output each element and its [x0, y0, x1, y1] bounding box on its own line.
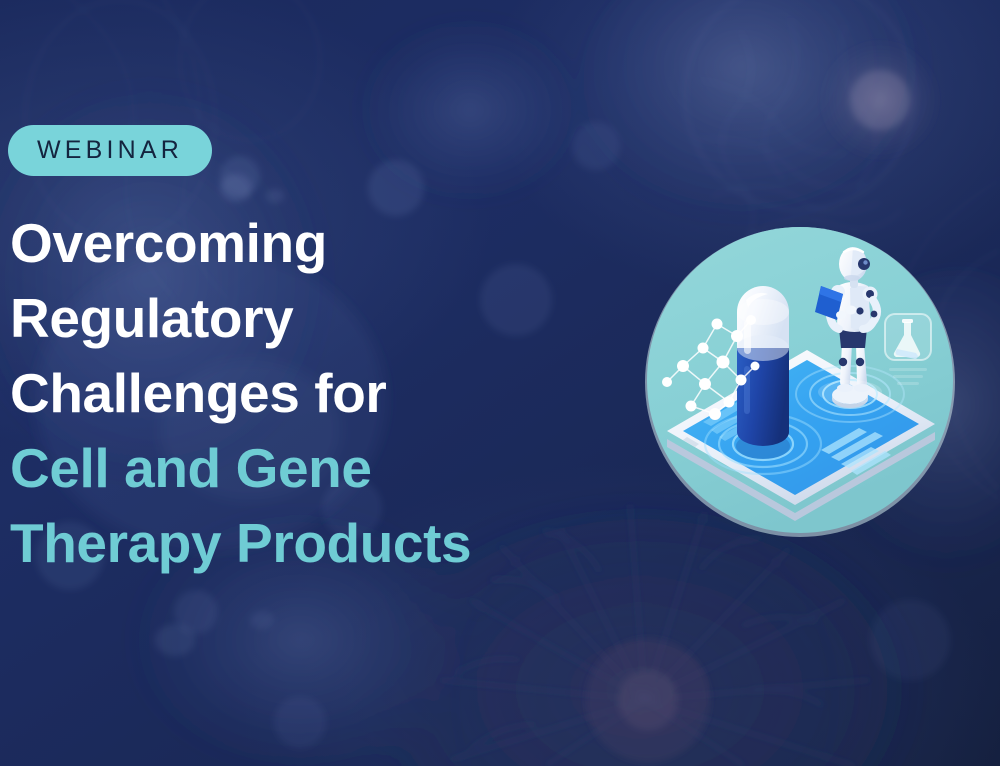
illustration-circle: [645, 216, 956, 546]
webinar-badge-label: WEBINAR: [37, 136, 183, 165]
headline-line-1: Overcoming: [10, 206, 650, 281]
webinar-banner: WEBINAR Overcoming Regulatory Challenges…: [0, 0, 1000, 766]
headline-line-2: Regulatory: [10, 281, 650, 356]
pill-capsule: [736, 286, 790, 459]
headline-line-3: Challenges for: [10, 356, 650, 431]
headline-line-4: Cell and Gene: [10, 431, 650, 506]
webinar-badge: WEBINAR: [8, 125, 212, 176]
headline: Overcoming Regulatory Challenges for Cel…: [10, 206, 650, 581]
headline-line-5: Therapy Products: [10, 506, 650, 581]
